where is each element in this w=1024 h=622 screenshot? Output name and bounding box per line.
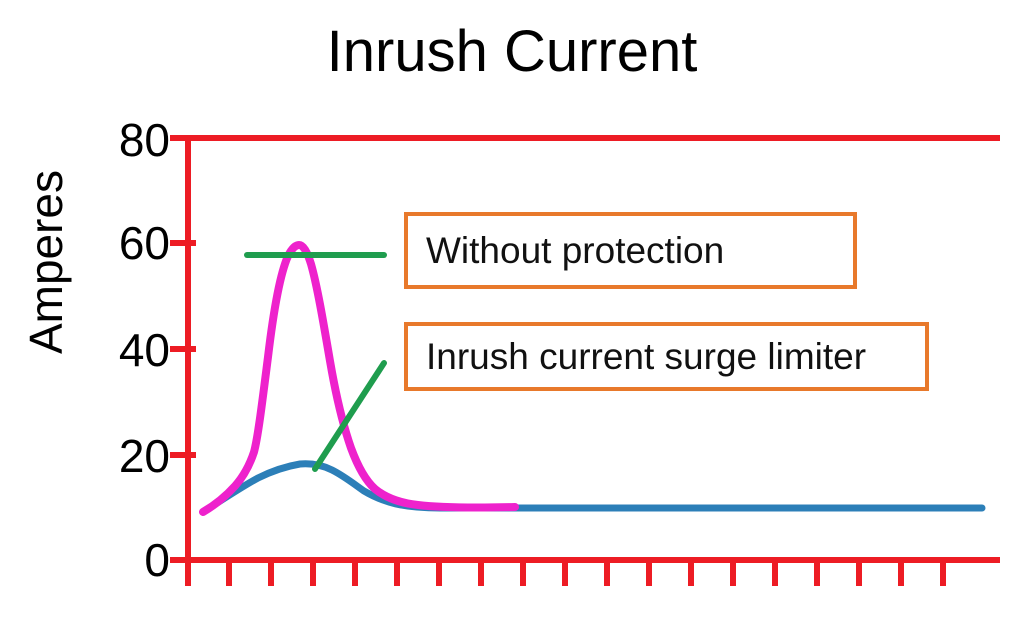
legend-box-surge-limiter[interactable]: Inrush current surge limiter — [404, 322, 929, 391]
legend-box-without-protection[interactable]: Without protection — [404, 212, 857, 289]
chart-figure: Inrush Current Amperes 80 60 40 20 0 — [0, 0, 1024, 622]
series-line-surge-limiter — [203, 464, 982, 512]
chart-plot-svg — [0, 0, 1024, 622]
x-tick-marks — [188, 560, 943, 586]
legend-label-surge-limiter: Inrush current surge limiter — [426, 337, 866, 377]
legend-label-without-protection: Without protection — [426, 231, 724, 271]
